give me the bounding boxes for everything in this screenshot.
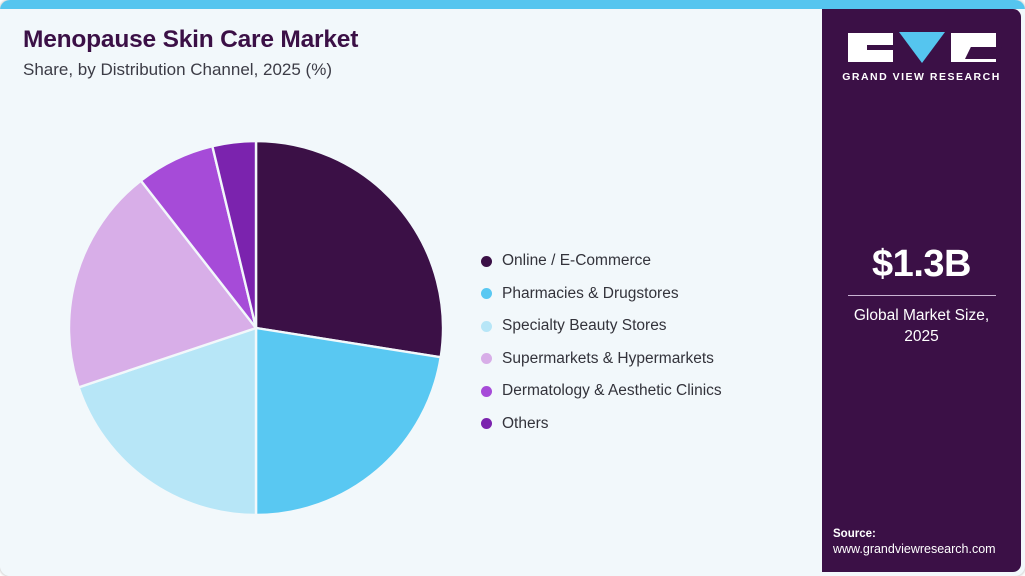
market-size-stat: $1.3B Global Market Size, 2025 [822, 245, 1021, 348]
top-accent-bar [0, 0, 1025, 9]
legend-swatch-icon [481, 321, 492, 332]
infographic-canvas: Menopause Skin Care Market Share, by Dis… [0, 0, 1025, 576]
market-size-caption: Global Market Size, 2025 [822, 306, 1021, 348]
market-size-value: $1.3B [822, 245, 1021, 283]
logo-triangle-icon [899, 32, 945, 63]
legend-swatch-icon [481, 386, 492, 397]
chart-legend: Online / E-CommercePharmacies & Drugstor… [481, 245, 811, 440]
logo-r-icon [951, 33, 996, 62]
legend-item-label: Specialty Beauty Stores [502, 317, 667, 335]
legend-item[interactable]: Others [481, 408, 811, 441]
pie-slice[interactable] [256, 328, 441, 515]
stat-divider [848, 295, 996, 296]
legend-swatch-icon [481, 256, 492, 267]
legend-item-label: Online / E-Commerce [502, 252, 651, 270]
grand-view-research-logo: GRAND VIEW RESEARCH [822, 32, 1021, 83]
source-label: Source: [833, 528, 1019, 540]
title-block: Menopause Skin Care Market Share, by Dis… [23, 26, 358, 80]
legend-item-label: Pharmacies & Drugstores [502, 285, 679, 303]
legend-swatch-icon [481, 288, 492, 299]
legend-item[interactable]: Specialty Beauty Stores [481, 310, 811, 343]
pie-chart-svg [67, 139, 445, 517]
legend-item[interactable]: Dermatology & Aesthetic Clinics [481, 375, 811, 408]
legend-item-label: Others [502, 415, 549, 433]
logo-marks [822, 32, 1021, 62]
page-title: Menopause Skin Care Market [23, 26, 358, 54]
legend-item-label: Dermatology & Aesthetic Clinics [502, 382, 722, 400]
pie-slice[interactable] [256, 141, 443, 357]
logo-wordmark: GRAND VIEW RESEARCH [822, 71, 1021, 83]
legend-item-label: Supermarkets & Hypermarkets [502, 350, 714, 368]
source-url[interactable]: www.grandviewresearch.com [833, 542, 1019, 556]
source-block: Source: www.grandviewresearch.com [833, 528, 1019, 556]
legend-swatch-icon [481, 418, 492, 429]
pie-chart [67, 139, 445, 517]
page-subtitle: Share, by Distribution Channel, 2025 (%) [23, 60, 358, 80]
legend-item[interactable]: Pharmacies & Drugstores [481, 278, 811, 311]
legend-item[interactable]: Online / E-Commerce [481, 245, 811, 278]
legend-item[interactable]: Supermarkets & Hypermarkets [481, 343, 811, 376]
brand-sidebar: GRAND VIEW RESEARCH $1.3B Global Market … [822, 9, 1021, 572]
logo-g-icon [848, 33, 893, 62]
chart-panel: Menopause Skin Care Market Share, by Dis… [0, 9, 822, 576]
legend-swatch-icon [481, 353, 492, 364]
